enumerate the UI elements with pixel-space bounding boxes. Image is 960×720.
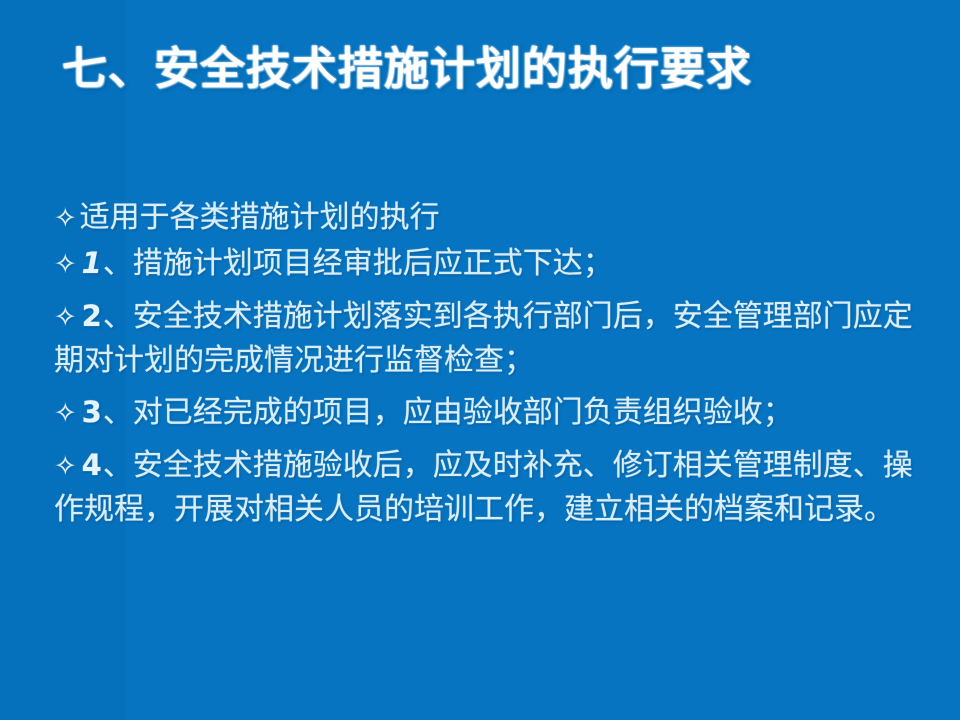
four-pointed-star-bullet-icon: ✧ — [54, 249, 77, 280]
bullet-number-2: 2 — [80, 299, 103, 333]
bullet-paragraph-4: ✧4、安全技术措施验收后，应及时补充、修订相关管理制度、操作规程，开展对相关人员… — [54, 444, 934, 531]
slide-title-placeholder: 七、安全技术措施计划的执行要求 — [62, 36, 912, 112]
slide-body-placeholder: ✧适用于各类措施计划的执行 ✧1、措施计划项目经审批后应正式下达； ✧2、安全技… — [54, 196, 934, 531]
bullet-number-3: 3 — [80, 395, 103, 429]
bullet-paragraph-3: ✧3、对已经完成的项目，应由验收部门负责组织验收； — [54, 391, 934, 435]
four-pointed-star-bullet-icon: ✧ — [54, 203, 77, 234]
bullet-text-3: 、对已经完成的项目，应由验收部门负责组织验收； — [103, 395, 793, 430]
bullet-paragraph-2: ✧2、安全技术措施计划落实到各执行部门后，安全管理部门应定期对计划的完成情况进行… — [54, 295, 934, 382]
presentation-slide: 七、安全技术措施计划的执行要求 ✧适用于各类措施计划的执行 ✧1、措施计划项目经… — [0, 0, 960, 720]
four-pointed-star-bullet-icon: ✧ — [54, 451, 77, 482]
bullet-paragraph-0: ✧适用于各类措施计划的执行 — [54, 196, 934, 240]
four-pointed-star-bullet-icon: ✧ — [54, 302, 77, 333]
bullet-number-4: 4 — [80, 448, 103, 482]
bullet-text-1: 、措施计划项目经审批后应正式下达； — [103, 246, 613, 281]
bullet-number-1: 1 — [80, 246, 103, 280]
page-title: 七、安全技术措施计划的执行要求 — [62, 36, 912, 102]
bullet-text-2: 、安全技术措施计划落实到各执行部门后，安全管理部门应定期对计划的完成情况进行监督… — [54, 299, 913, 378]
bullet-paragraph-1: ✧1、措施计划项目经审批后应正式下达； — [54, 242, 934, 286]
bullet-text-4: 、安全技术措施验收后，应及时补充、修订相关管理制度、操作规程，开展对相关人员的培… — [54, 448, 913, 527]
four-pointed-star-bullet-icon: ✧ — [54, 398, 77, 429]
bullet-text-0: 适用于各类措施计划的执行 — [80, 200, 440, 235]
